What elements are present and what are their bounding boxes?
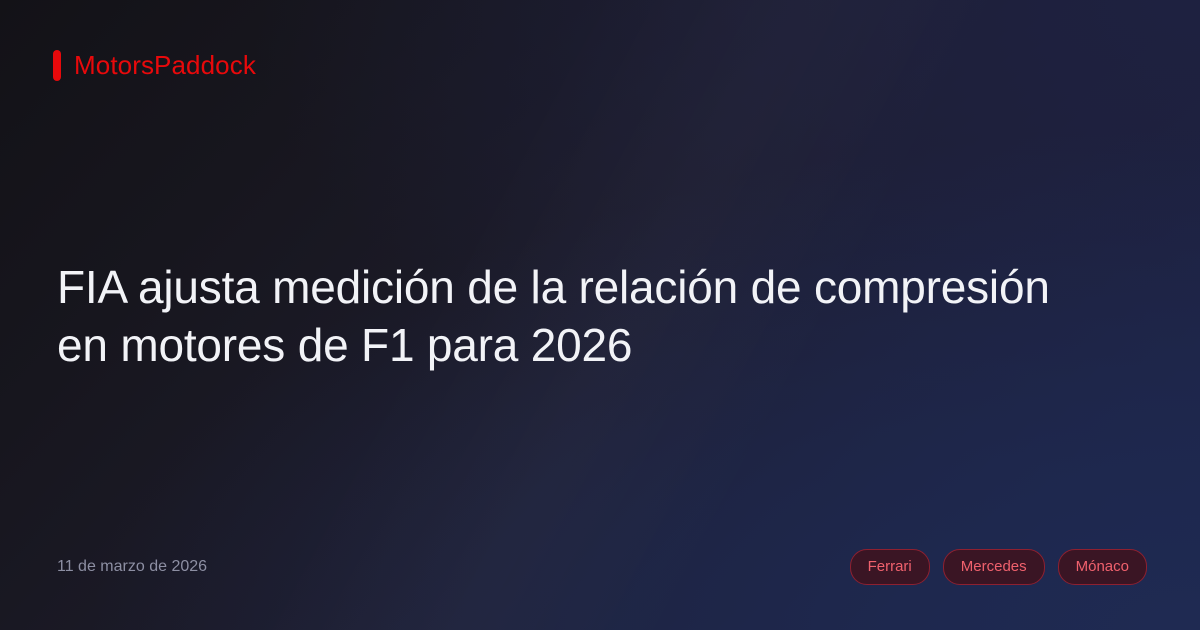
brand-mark-icon [53,50,61,81]
tag-chip-ferrari[interactable]: Ferrari [850,549,930,585]
tag-chip-mercedes[interactable]: Mercedes [943,549,1045,585]
card-footer: 11 de marzo de 2026 Ferrari Mercedes Món… [57,549,1147,585]
brand-name: MotorsPaddock [74,50,256,81]
social-share-card: MotorsPaddock FIA ajusta medición de la … [0,0,1200,630]
article-headline: FIA ajusta medición de la relación de co… [57,258,1103,374]
tag-list: Ferrari Mercedes Mónaco [850,549,1147,585]
tag-chip-monaco[interactable]: Mónaco [1058,549,1147,585]
brand-logo[interactable]: MotorsPaddock [53,50,256,81]
publish-date: 11 de marzo de 2026 [57,557,207,577]
